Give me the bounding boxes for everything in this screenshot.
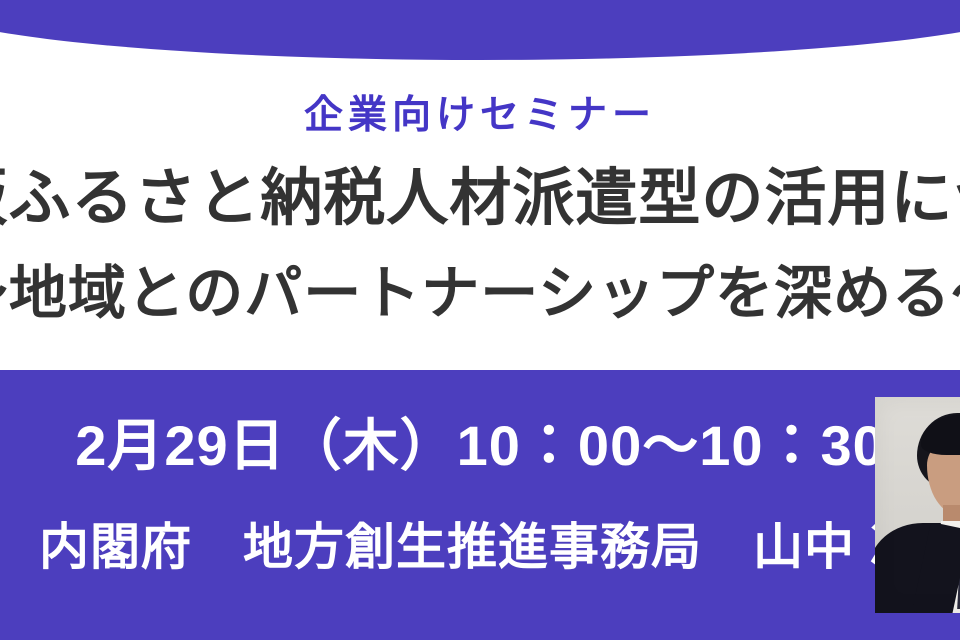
top-curved-banner — [0, 0, 960, 60]
seminar-speaker: 内閣府 地方創生推進事務局 山中 凌 — [39, 522, 921, 572]
bottom-info-band — [0, 370, 960, 640]
speaker-portrait-photo — [875, 397, 960, 613]
seminar-title-main: 企業版ふるさと納税人材派遣型の活用について — [0, 168, 960, 230]
portrait-vignette — [875, 397, 960, 613]
seminar-title-sub: 〜地域とのパートナーシップを深める〜 — [0, 265, 960, 323]
headline-area: 企業向けセミナー 企業版ふるさと納税人材派遣型の活用について 〜地域とのパートナ… — [0, 60, 960, 370]
seminar-datetime: 2月29日（木）10：00〜10：30 — [75, 418, 885, 474]
seminar-banner-slide: 企業向けセミナー 企業版ふるさと納税人材派遣型の活用について 〜地域とのパートナ… — [0, 0, 960, 640]
seminar-eyebrow-label: 企業向けセミナー — [0, 96, 960, 135]
